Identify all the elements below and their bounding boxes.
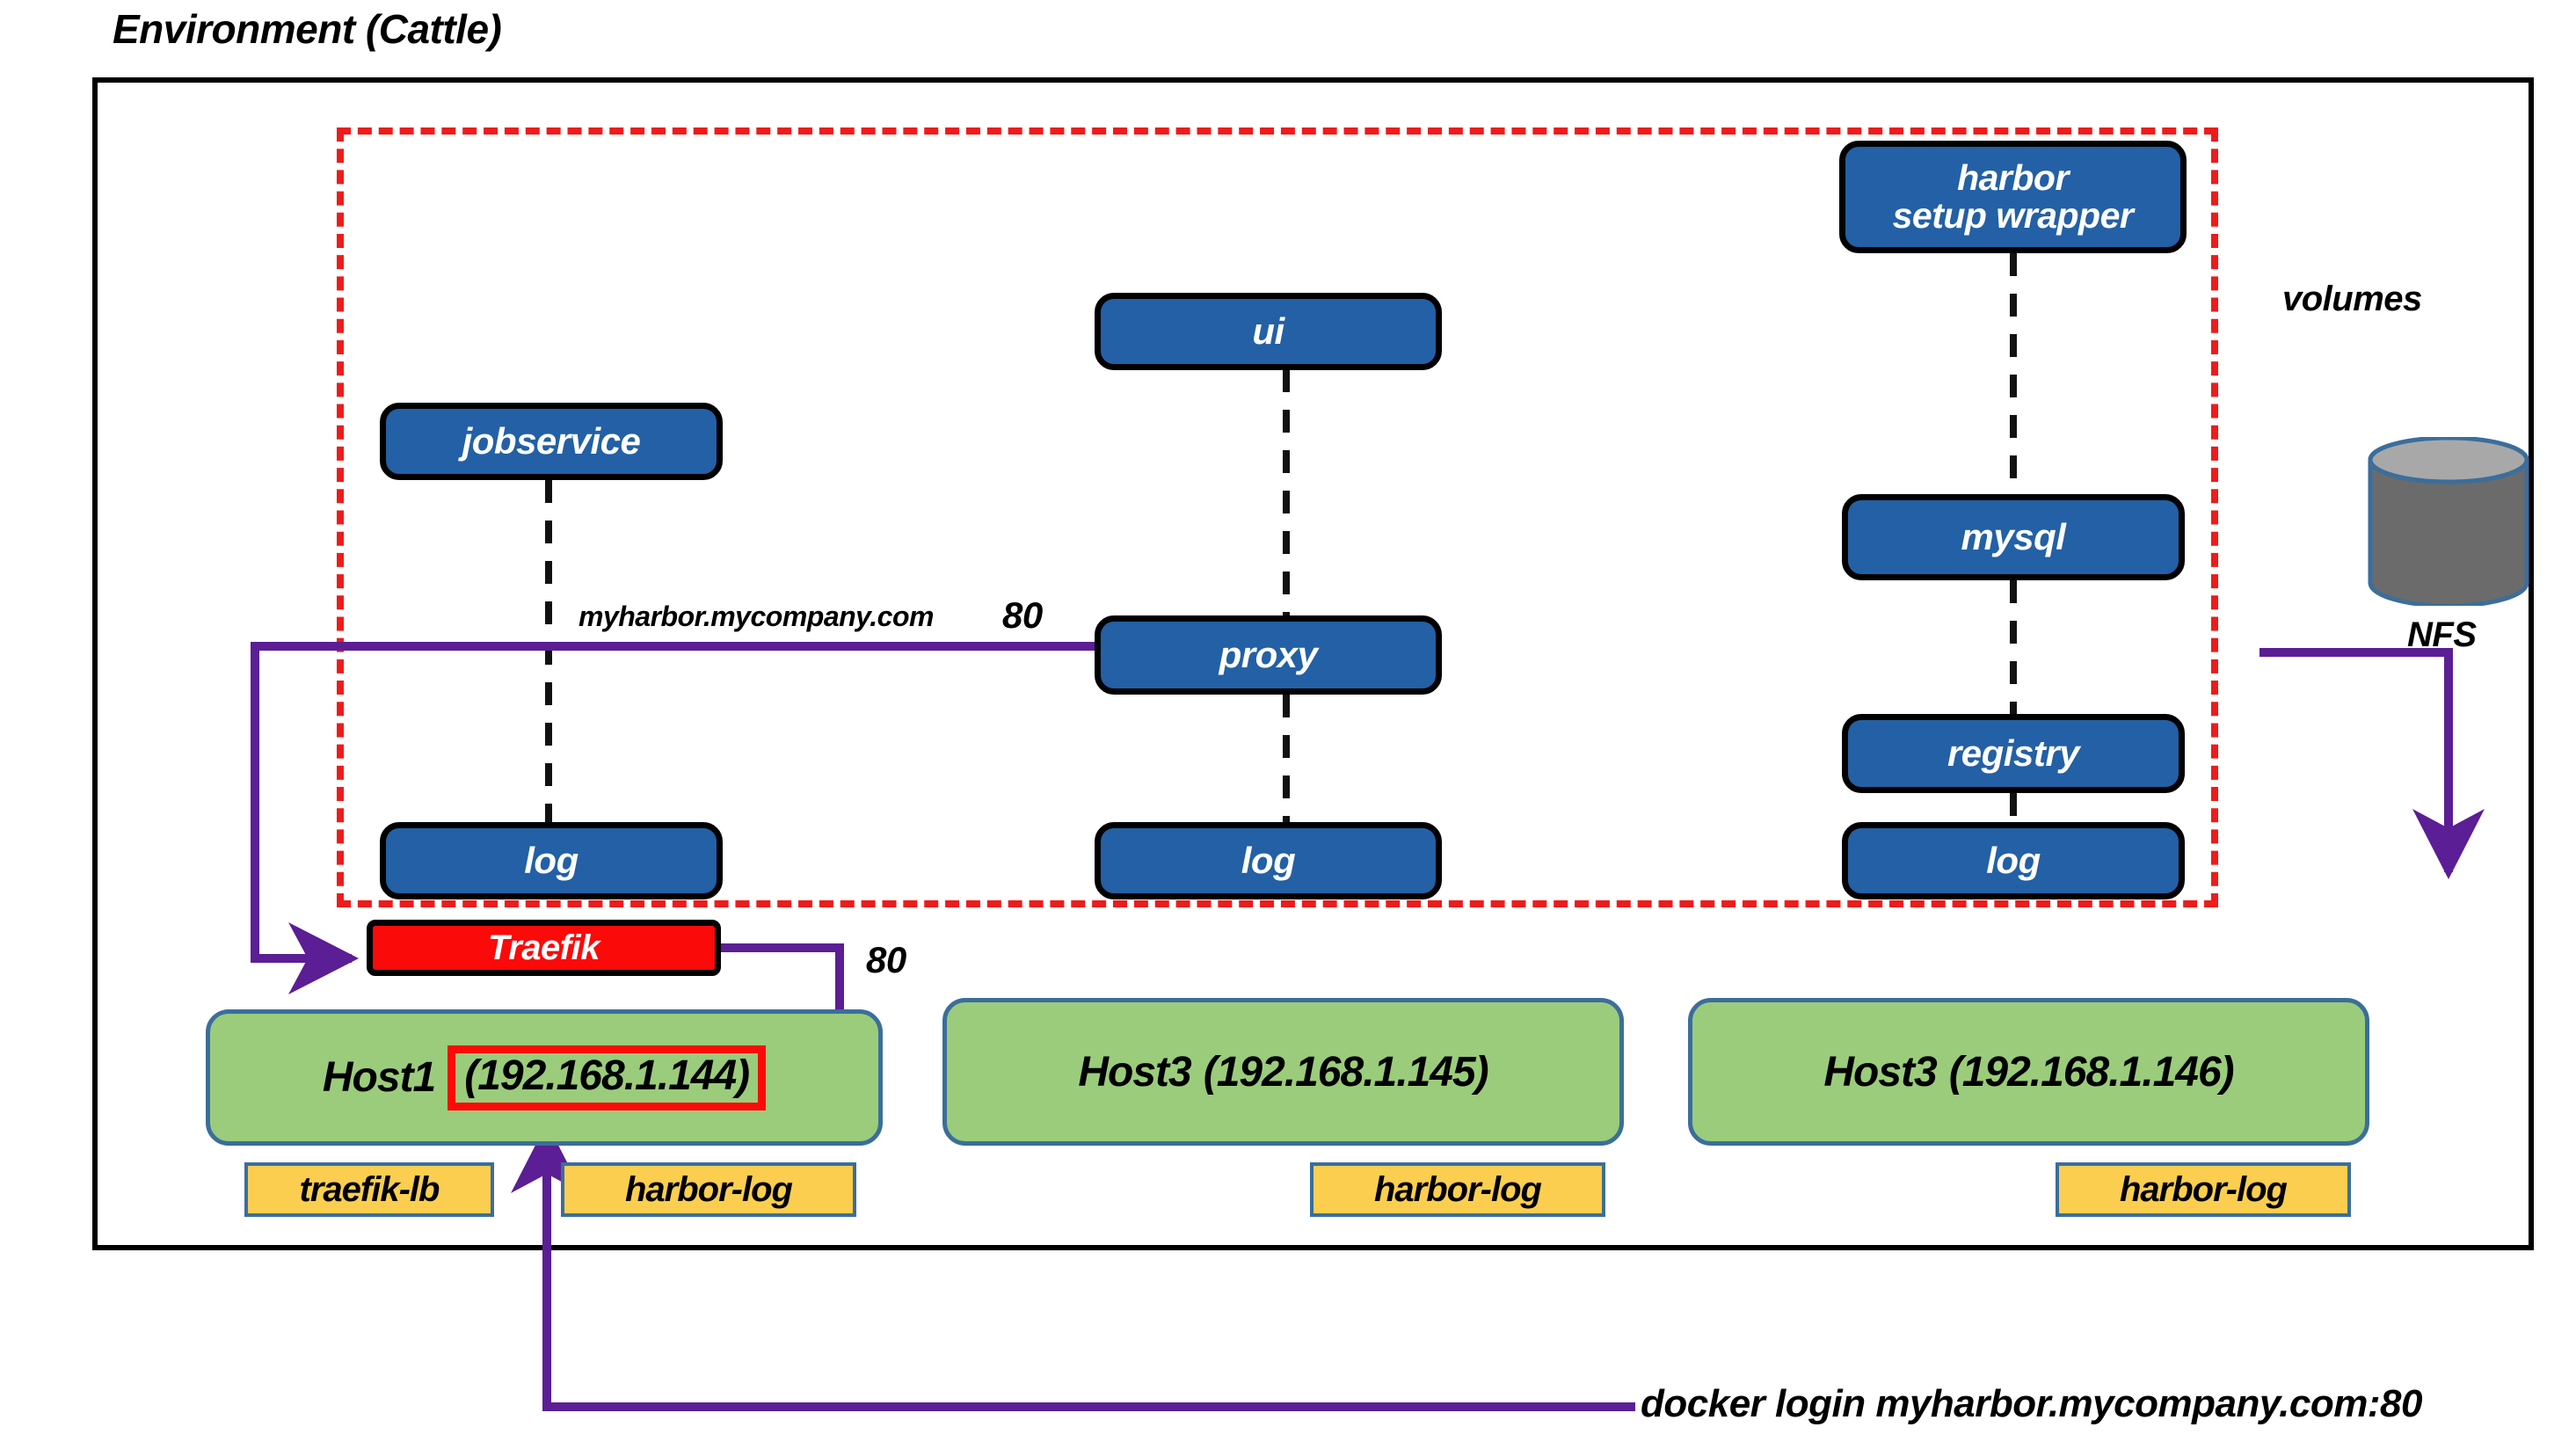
- host-ip-highlight: (192.168.1.144): [448, 1045, 766, 1110]
- service-registry-log[interactable]: log: [1842, 822, 2185, 899]
- host-card-3[interactable]: Host3 (192.168.1.146): [1688, 998, 2369, 1146]
- host-card-2[interactable]: Host3 (192.168.1.145): [942, 998, 1624, 1146]
- service-harbor-setup-wrapper[interactable]: harbor setup wrapper: [1839, 141, 2187, 253]
- service-label: proxy: [1219, 636, 1318, 675]
- tag-label: traefik-lb: [300, 1170, 440, 1210]
- tag-label: harbor-log: [625, 1170, 792, 1210]
- service-label: mysql: [1961, 518, 2066, 557]
- ingress-domain-label: myharbor.mycompany.com: [579, 601, 934, 633]
- host-name: Host1: [323, 1053, 435, 1102]
- host-name: Host3: [1078, 1048, 1190, 1096]
- service-jobservice-log[interactable]: log: [380, 822, 723, 899]
- service-label: log: [524, 841, 578, 881]
- docker-login-command: docker login myharbor.mycompany.com:80: [1641, 1382, 2422, 1426]
- service-label-line2: setup wrapper: [1893, 197, 2134, 235]
- nfs-label: NFS: [2407, 615, 2477, 655]
- service-label: log: [1241, 841, 1295, 881]
- host-tag-harbor-log-1[interactable]: harbor-log: [561, 1162, 856, 1217]
- service-proxy-log[interactable]: log: [1095, 822, 1442, 899]
- host-tag-traefik-lb[interactable]: traefik-lb: [244, 1162, 494, 1217]
- environment-title: Environment (Cattle): [113, 5, 501, 53]
- service-ui[interactable]: ui: [1095, 293, 1442, 370]
- service-label: ui: [1252, 312, 1284, 352]
- volumes-label: volumes: [2282, 280, 2422, 319]
- diagram-canvas: Environment (Cattle) jobservice: [0, 0, 2576, 1449]
- traefik-load-balancer[interactable]: Traefik: [367, 920, 721, 976]
- host-tag-harbor-log-3[interactable]: harbor-log: [2056, 1162, 2351, 1217]
- service-proxy[interactable]: proxy: [1095, 615, 1442, 695]
- service-jobservice[interactable]: jobservice: [380, 403, 723, 480]
- service-mysql[interactable]: mysql: [1842, 494, 2185, 580]
- tag-label: harbor-log: [1374, 1170, 1541, 1210]
- traefik-label: Traefik: [488, 928, 600, 968]
- host-name: Host3: [1823, 1048, 1936, 1096]
- host-ip: (192.168.1.146): [1949, 1048, 2234, 1096]
- host-ip: (192.168.1.145): [1204, 1048, 1488, 1096]
- traefik-port-label: 80: [866, 939, 906, 981]
- nfs-cylinder-icon: [2367, 437, 2530, 606]
- service-label: registry: [1947, 734, 2079, 774]
- service-label-line1: harbor: [1957, 159, 2069, 197]
- service-label: jobservice: [462, 422, 641, 462]
- service-label: log: [1986, 841, 2040, 881]
- tag-label: harbor-log: [2120, 1170, 2287, 1210]
- host-tag-harbor-log-2[interactable]: harbor-log: [1310, 1162, 1605, 1217]
- ingress-port-label: 80: [1002, 594, 1043, 637]
- service-registry[interactable]: registry: [1842, 714, 2185, 793]
- host-card-1[interactable]: Host1 (192.168.1.144): [206, 1009, 883, 1146]
